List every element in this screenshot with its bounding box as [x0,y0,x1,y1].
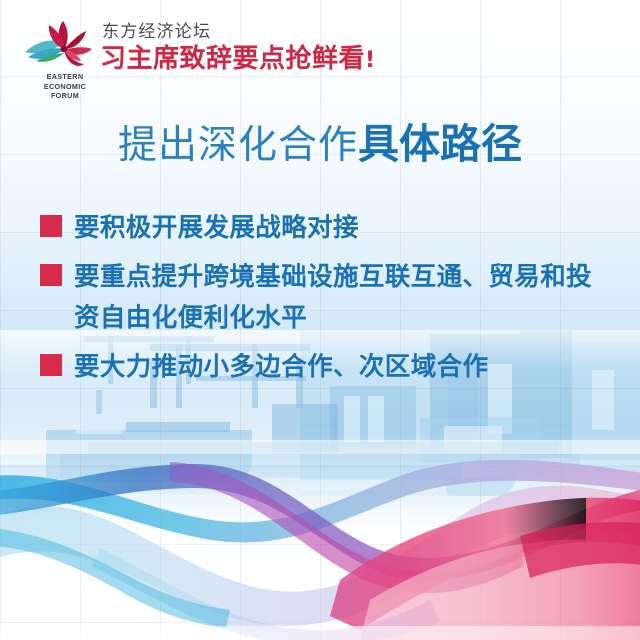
list-item-label: 要重点提升跨境基础设施互联互通、贸易和投资自由化便利化水平 [74,257,616,339]
logo-word-line-3: FORUM [32,91,98,101]
bullet-square-icon [40,354,62,376]
logo-wordmark: EASTERN ECONOMIC FORUM [32,72,98,101]
bullet-square-icon [40,264,62,286]
masthead: EASTERN ECONOMIC FORUM 东方经济论坛 习主席致辞要点抢鲜看… [24,14,444,100]
list-item-label: 要大力推动小多边合作、次区域合作 [74,347,616,388]
list-item: 要重点提升跨境基础设施互联互通、贸易和投资自由化便利化水平 [40,257,616,339]
page-title-light-part: 提出深化合作 [118,123,358,168]
masthead-tagline: 习主席致辞要点抢鲜看! [100,44,376,76]
list-item: 要积极开展发展战略对接 [40,208,616,249]
eastern-economic-forum-lotus-logo-icon [24,16,96,74]
logo-word-line-1: EASTERN [32,72,98,82]
page-title: 提出深化合作具体路径 [0,120,640,170]
page-title-bold-part: 具体路径 [358,120,522,168]
masthead-tagline-exclamation: ! [365,48,376,73]
list-item: 要大力推动小多边合作、次区域合作 [40,347,616,388]
poster-canvas: EASTERN ECONOMIC FORUM 东方经济论坛 习主席致辞要点抢鲜看… [0,0,640,640]
masthead-tagline-text: 习主席致辞要点抢鲜看 [100,44,365,74]
forum-name-cn: 东方经济论坛 [102,22,211,42]
decorative-mesh-wave-ribbons [0,440,640,640]
bullet-square-icon [40,215,62,237]
list-item-label: 要积极开展发展战略对接 [74,208,616,249]
logo-word-line-2: ECONOMIC [32,82,98,92]
bullet-list: 要积极开展发展战略对接 要重点提升跨境基础设施互联互通、贸易和投资自由化便利化水… [40,208,616,396]
